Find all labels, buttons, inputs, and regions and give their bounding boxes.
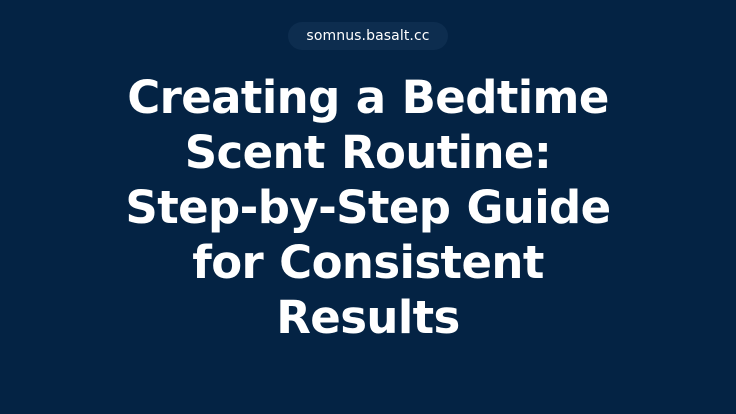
domain-badge: somnus.basalt.cc bbox=[288, 22, 447, 50]
headline-line-2: Scent Routine: bbox=[68, 125, 668, 180]
page-title: Creating a Bedtime Scent Routine: Step-b… bbox=[68, 70, 668, 345]
headline-line-3: Step-by-Step Guide bbox=[68, 180, 668, 235]
headline-container: Creating a Bedtime Scent Routine: Step-b… bbox=[68, 70, 668, 345]
social-share-card: somnus.basalt.cc Creating a Bedtime Scen… bbox=[0, 0, 736, 414]
headline-line-4: for Consistent bbox=[68, 235, 668, 290]
headline-line-5: Results bbox=[68, 290, 668, 345]
headline-line-1: Creating a Bedtime bbox=[68, 70, 668, 125]
